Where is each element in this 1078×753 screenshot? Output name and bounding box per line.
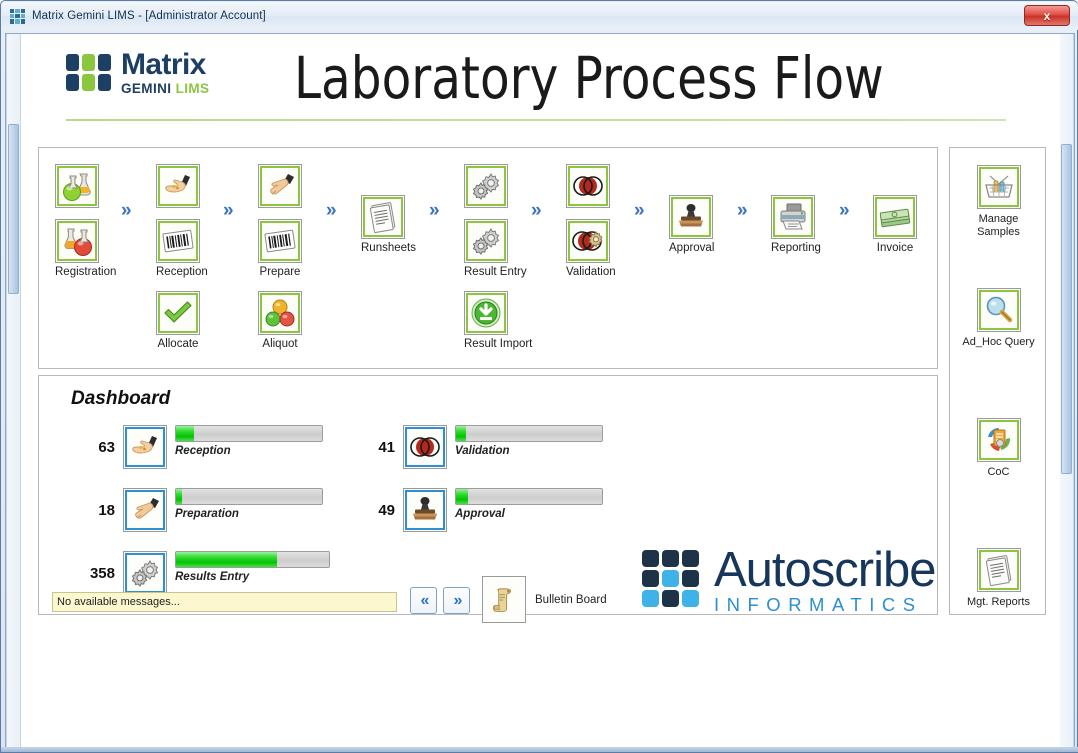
flow-arrow-6: » (634, 200, 641, 222)
printer-icon[interactable] (771, 195, 815, 239)
flow-node-runsheets[interactable]: Runsheets (361, 195, 416, 254)
bulletin-board-button[interactable]: Bulletin Board (482, 576, 607, 623)
barcode-icon[interactable] (258, 219, 302, 263)
dashboard-label: Validation (455, 445, 603, 457)
dashboard-count: 49 (349, 488, 395, 519)
dashboard-progress-fill (456, 426, 466, 441)
page-header: Matrix GEMINI LIMS Laboratory Process Fl… (22, 34, 1060, 126)
flow-label: Invoice (873, 242, 917, 254)
hand-samples-icon[interactable] (123, 425, 167, 469)
dashboard-progress-fill (456, 489, 468, 504)
sample-basket-icon[interactable] (977, 165, 1021, 209)
chain-of-custody-icon[interactable] (977, 418, 1021, 462)
logo-gemini-text: GEMINI (121, 81, 171, 96)
green-check-icon[interactable] (156, 291, 200, 335)
hand-pointing-icon[interactable] (123, 488, 167, 532)
rubber-stamp-icon[interactable] (403, 488, 447, 532)
flow-label: Validation (566, 266, 616, 278)
autoscribe-squares-icon (642, 550, 702, 610)
logo-squares-icon (66, 54, 112, 92)
message-input[interactable]: No available messages... (52, 592, 397, 612)
dashboard-progress-fill (176, 426, 194, 441)
title-bar: Matrix Gemini LIMS - [Administrator Acco… (2, 2, 1078, 30)
flow-node-reception[interactable]: Reception (156, 164, 208, 278)
flow-node-aliquot[interactable]: Aliquot (258, 291, 302, 350)
gears-icon[interactable] (123, 551, 167, 595)
sidebar-item-mgt-reports[interactable]: Mgt. Reports (950, 548, 1047, 609)
sidebar-item-manage-samples[interactable]: Manage Samples (950, 165, 1047, 238)
flow-arrow-3: » (326, 200, 333, 222)
dashboard-row-results-entry: 358 (69, 551, 330, 595)
flow-label: Runsheets (361, 242, 416, 254)
right-scrollbar[interactable] (1059, 34, 1074, 751)
left-scrollbar-thumb[interactable] (8, 124, 19, 294)
flow-node-reporting[interactable]: Reporting (771, 195, 821, 254)
flow-arrow-7: » (737, 200, 744, 222)
flow-arrow-2: » (223, 200, 230, 222)
sidebar-item-label: Mgt. Reports (950, 596, 1047, 609)
flow-label: Allocate (156, 338, 200, 350)
sidebar-label-line1: Manage (979, 213, 1019, 225)
flow-node-invoice[interactable]: Invoice (873, 195, 917, 254)
dashboard-label: Approval (455, 508, 603, 520)
venn-gears-icon[interactable] (566, 219, 610, 263)
flow-arrow-1: » (121, 200, 128, 222)
window-footer (1, 747, 1078, 752)
flasks-green-icon[interactable] (55, 164, 99, 208)
dashboard-progress-bar (175, 425, 323, 442)
hand-samples-icon[interactable] (156, 164, 200, 208)
gears-icon[interactable] (464, 164, 508, 208)
flow-node-allocate[interactable]: Allocate (156, 291, 200, 350)
report-document-icon[interactable] (977, 548, 1021, 592)
logo-lims-text: LIMS (176, 81, 210, 96)
dashboard-title: Dashboard (71, 388, 170, 410)
flow-node-result-import[interactable]: Result Import (464, 291, 532, 350)
dashboard-progress-bar (175, 488, 323, 505)
flow-node-result-entry[interactable]: Result Entry (464, 164, 527, 278)
autoscribe-name: Autoscribe (714, 546, 936, 595)
page-title: Laboratory Process Flow (294, 44, 884, 112)
dashboard-progress-bar (175, 551, 330, 568)
process-flow-panel: Registration » (38, 147, 938, 369)
scroll-icon[interactable] (482, 576, 526, 623)
flow-label: Result Entry (464, 266, 527, 278)
dashboard-row-approval: 49 Approval (349, 488, 603, 532)
flow-label: Aliquot (258, 338, 302, 350)
flow-label: Reception (156, 266, 208, 278)
header-divider (66, 119, 1006, 121)
dashboard-progress-bar (455, 425, 603, 442)
flow-label: Approval (669, 242, 714, 254)
dashboard-label: Reception (175, 445, 323, 457)
dashboard-row-reception: 63 Reception (69, 425, 323, 469)
dashboard-count: 41 (349, 425, 395, 456)
autoscribe-subtitle: INFORMATICS (714, 596, 936, 615)
dashboard-row-preparation: 18 Preparation (69, 488, 323, 532)
dashboard-progress-fill (176, 552, 277, 567)
download-arrow-icon[interactable] (464, 291, 508, 335)
sidebar-item-label: Ad_Hoc Query (950, 336, 1047, 349)
flow-arrow-5: » (531, 200, 538, 222)
window-title: Matrix Gemini LIMS - [Administrator Acco… (32, 10, 266, 22)
dashboard-progress-fill (176, 489, 182, 504)
bulletin-board-label: Bulletin Board (535, 594, 607, 606)
flow-arrow-8: » (839, 200, 846, 222)
flow-label: Registration (55, 266, 116, 278)
flow-label: Reporting (771, 242, 821, 254)
venn-circles-icon[interactable] (566, 164, 610, 208)
left-scrollbar[interactable] (6, 34, 21, 751)
dashboard-label: Results Entry (175, 571, 330, 583)
dashboard-count: 358 (69, 551, 115, 582)
flasks-red-icon[interactable] (55, 219, 99, 263)
hand-pointing-icon[interactable] (258, 164, 302, 208)
flow-node-validation[interactable]: Validation (566, 164, 616, 278)
dashboard-count: 63 (69, 425, 115, 456)
rubber-stamp-icon[interactable] (669, 195, 713, 239)
autoscribe-logo: Autoscribe INFORMATICS (642, 546, 936, 615)
flow-node-registration[interactable]: Registration (55, 164, 116, 278)
flow-node-approval[interactable]: Approval (669, 195, 714, 254)
flow-label: Result Import (464, 338, 532, 350)
previous-message-button[interactable]: « (410, 587, 437, 614)
dashboard-progress-bar (455, 488, 603, 505)
grid-icon (10, 9, 25, 24)
logo-brand-text: Matrix (121, 50, 209, 80)
sidebar-item-coc[interactable]: CoC (950, 418, 1047, 479)
three-spheres-icon[interactable] (258, 291, 302, 335)
close-button[interactable]: x (1024, 5, 1070, 26)
flow-label: Prepare (258, 266, 302, 278)
flow-node-prepare[interactable]: Prepare (258, 164, 302, 278)
matrix-gemini-logo: Matrix GEMINI LIMS (66, 50, 209, 96)
sidebar-label-line2: Samples (977, 226, 1020, 238)
magnifier-icon[interactable] (977, 288, 1021, 332)
money-stack-icon[interactable] (873, 195, 917, 239)
gears-icon[interactable] (464, 219, 508, 263)
flow-arrow-4: » (429, 200, 436, 222)
application-window: Matrix Gemini LIMS - [Administrator Acco… (0, 0, 1078, 753)
client-area: Matrix GEMINI LIMS Laboratory Process Fl… (5, 33, 1075, 750)
sidebar-item-label: Manage Samples (950, 213, 1047, 238)
sidebar-item-ad-hoc-query[interactable]: Ad_Hoc Query (950, 288, 1047, 349)
shortcuts-panel: Manage Samples Ad_Hoc Query (949, 147, 1046, 615)
dashboard-label: Preparation (175, 508, 323, 520)
barcode-icon[interactable] (156, 219, 200, 263)
runsheet-document-icon[interactable] (361, 195, 405, 239)
right-scrollbar-thumb[interactable] (1061, 144, 1072, 474)
venn-circles-icon[interactable] (403, 425, 447, 469)
sidebar-item-label: CoC (950, 466, 1047, 479)
dashboard-row-validation: 41 Validation (349, 425, 603, 469)
next-message-button[interactable]: » (443, 587, 470, 614)
dashboard-count: 18 (69, 488, 115, 519)
